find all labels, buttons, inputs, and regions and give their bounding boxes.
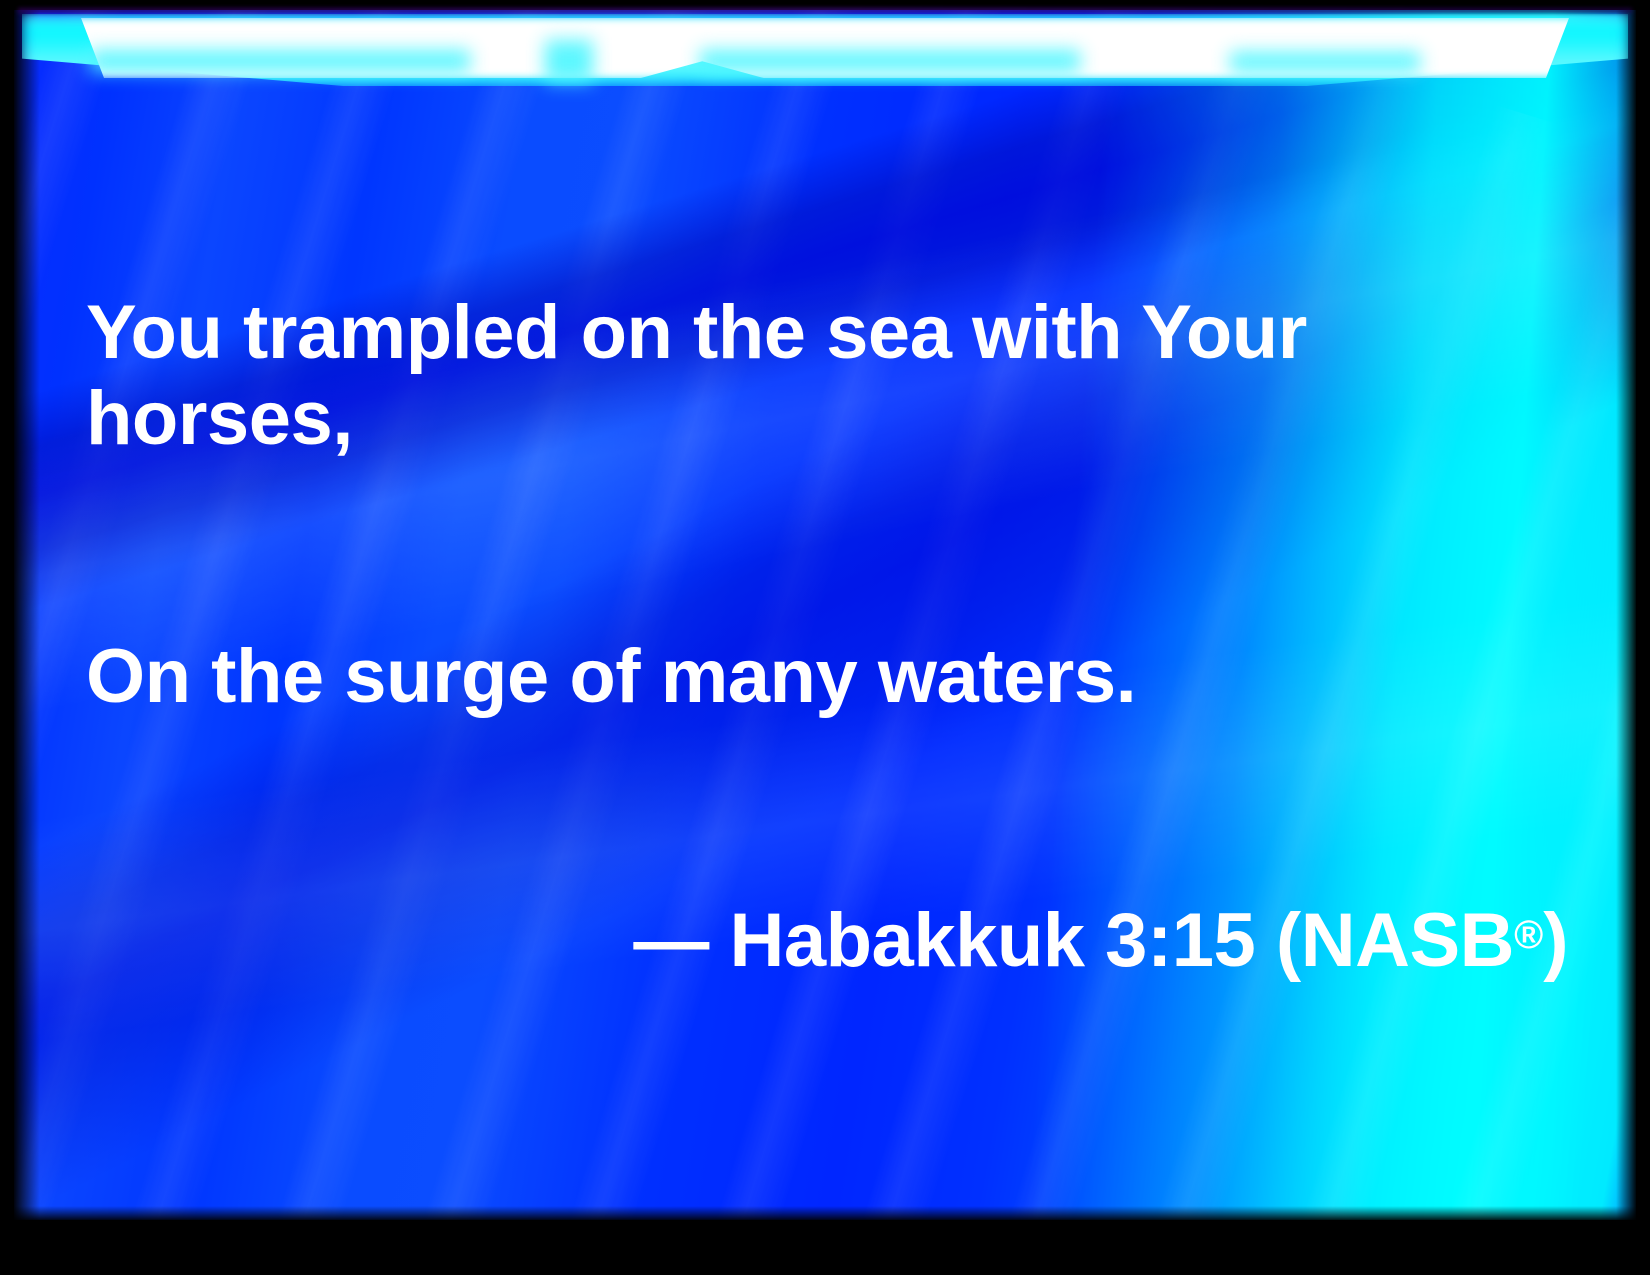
glow-band-cyan-patch [700, 50, 1080, 72]
glow-band-cyan-patch [90, 50, 470, 72]
registered-trademark-icon: ® [1514, 913, 1543, 957]
light-glow-band [0, 0, 1650, 120]
verse-reference-line: — Habakkuk 3:15 (NASB®) [86, 892, 1570, 984]
verse-line-2: On the surge of many waters. [86, 634, 1570, 720]
reference-text: Habakkuk 3:15 (NASB [729, 898, 1514, 983]
glow-band-cyan-patch [1230, 52, 1420, 72]
reference-close-paren: ) [1543, 898, 1568, 983]
glow-band-violet-edge [18, 8, 1632, 13]
verse-text-block: You trampled on the sea with Your horses… [86, 118, 1570, 1156]
verse-line-1: You trampled on the sea with Your horses… [86, 290, 1570, 462]
verse-slide: You trampled on the sea with Your horses… [0, 0, 1650, 1275]
glow-band-cyan-patch [545, 40, 593, 82]
reference-em-dash: — [633, 898, 729, 983]
